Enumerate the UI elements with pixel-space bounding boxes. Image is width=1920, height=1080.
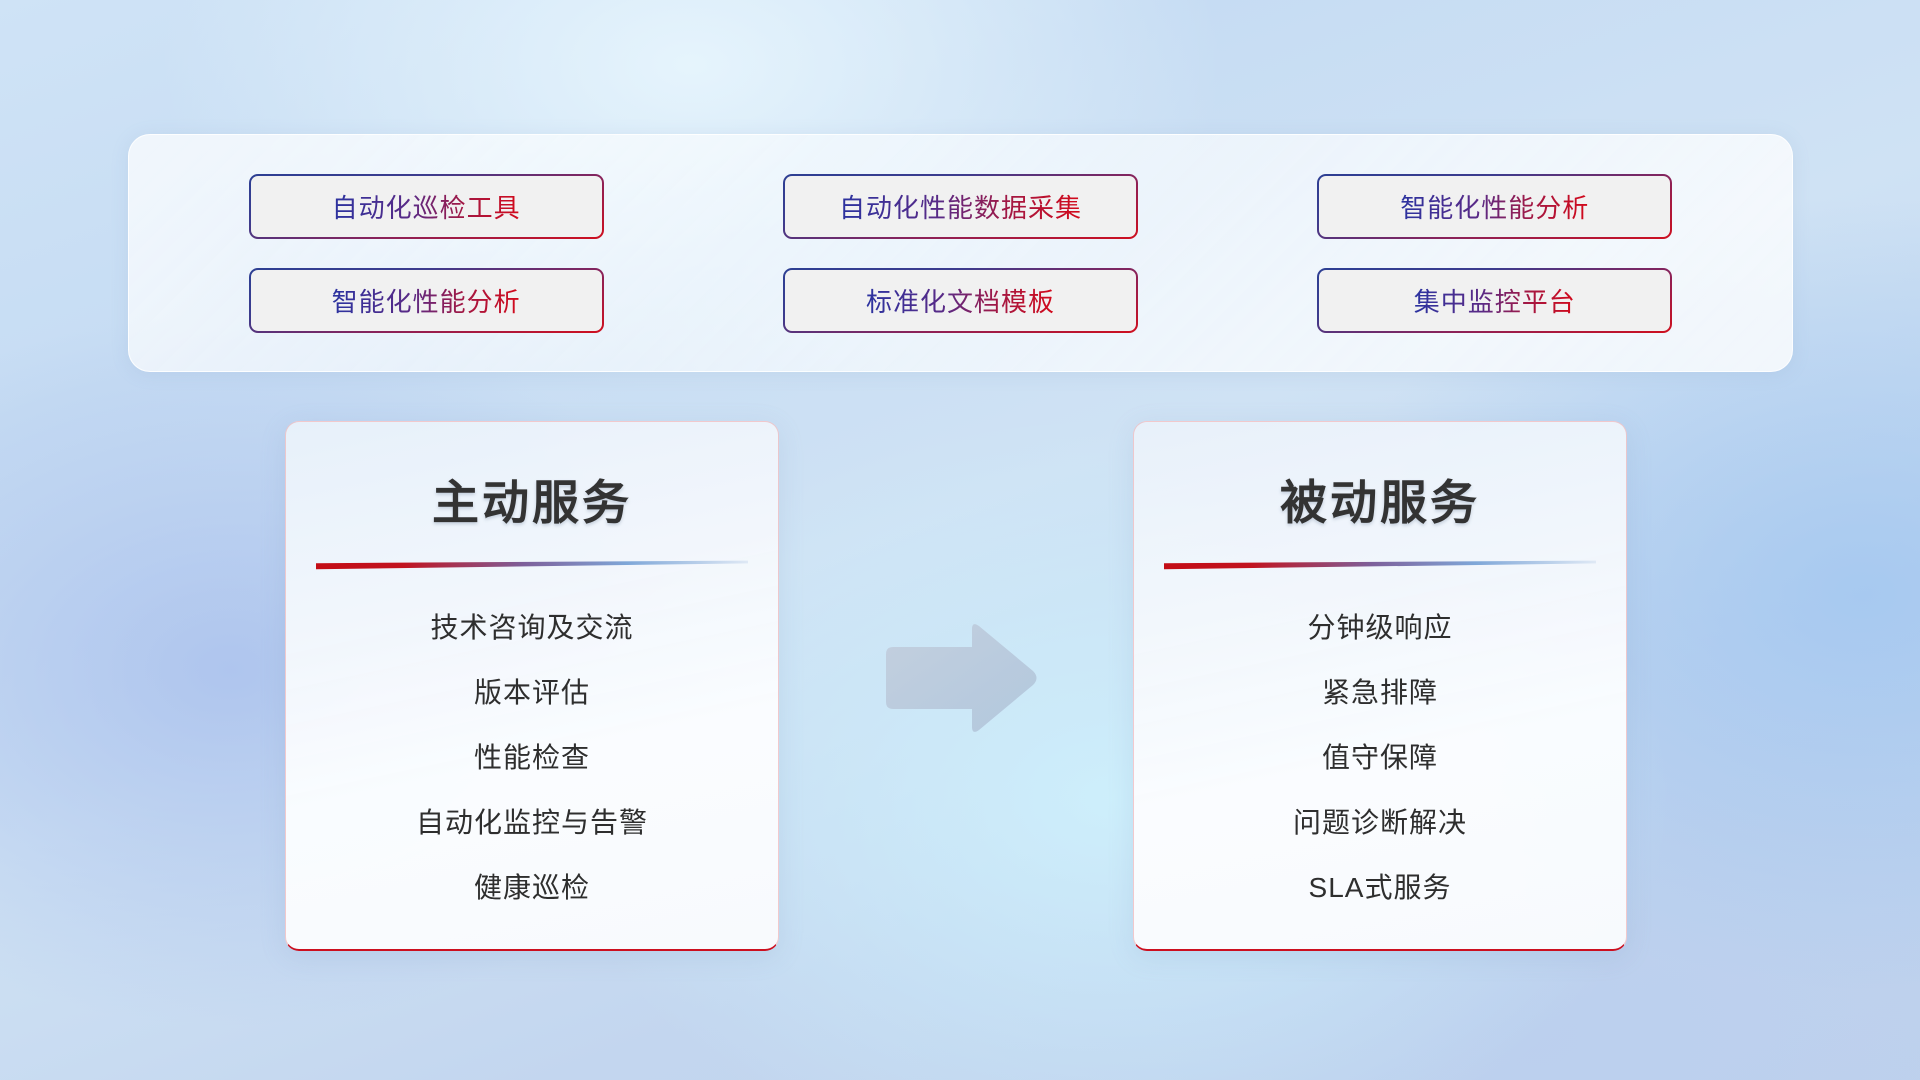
card-list-item: 值守保障 xyxy=(1322,736,1438,776)
capability-tag-label: 智能化性能分析 xyxy=(332,282,521,319)
card-list-item: 性能检查 xyxy=(474,736,590,776)
card-item-list: 技术咨询及交流 版本评估 性能检查 自动化监控与告警 健康巡检 xyxy=(286,606,778,906)
capability-tag[interactable]: 智能化性能分析 xyxy=(1317,174,1672,239)
capability-tag-label: 自动化性能数据采集 xyxy=(839,188,1082,225)
capability-tag-label: 标准化文档模板 xyxy=(866,282,1055,319)
title-divider xyxy=(1164,560,1596,572)
card-title: 主动服务 xyxy=(286,464,778,533)
title-divider xyxy=(316,560,748,572)
card-list-item: 技术咨询及交流 xyxy=(430,606,633,646)
arrow-right-icon xyxy=(880,620,1040,736)
card-list-item: 自动化监控与告警 xyxy=(416,801,648,841)
capability-tag[interactable]: 自动化性能数据采集 xyxy=(783,174,1138,239)
card-list-item: 问题诊断解决 xyxy=(1293,801,1467,841)
card-title: 被动服务 xyxy=(1134,464,1626,533)
card-item-list: 分钟级响应 紧急排障 值守保障 问题诊断解决 SLA式服务 xyxy=(1134,606,1626,906)
capability-tag[interactable]: 标准化文档模板 xyxy=(783,268,1138,333)
slide-canvas: 自动化巡检工具 自动化性能数据采集 智能化性能分析 智能化性能分析 标准化文档模… xyxy=(0,0,1920,1080)
capability-tag-label: 智能化性能分析 xyxy=(1400,188,1589,225)
capability-tag-panel: 自动化巡检工具 自动化性能数据采集 智能化性能分析 智能化性能分析 标准化文档模… xyxy=(128,134,1793,372)
card-list-item: 紧急排障 xyxy=(1322,671,1438,711)
capability-tag-grid: 自动化巡检工具 自动化性能数据采集 智能化性能分析 智能化性能分析 标准化文档模… xyxy=(129,135,1792,371)
capability-tag[interactable]: 集中监控平台 xyxy=(1317,268,1672,333)
card-list-item: 健康巡检 xyxy=(474,866,590,906)
capability-tag[interactable]: 智能化性能分析 xyxy=(249,268,604,333)
capability-tag-label: 自动化巡检工具 xyxy=(332,188,521,225)
card-list-item: 分钟级响应 xyxy=(1307,606,1452,646)
card-list-item: 版本评估 xyxy=(474,671,590,711)
capability-tag-label: 集中监控平台 xyxy=(1414,282,1576,319)
card-list-item: SLA式服务 xyxy=(1309,866,1452,906)
service-card-proactive[interactable]: 主动服务 技术咨询及交流 版本评估 性能检查 自动化监控与告警 xyxy=(285,421,779,951)
capability-tag[interactable]: 自动化巡检工具 xyxy=(249,174,604,239)
service-card-reactive[interactable]: 被动服务 分钟级响应 紧急排障 值守保障 问题诊断解决 xyxy=(1133,421,1627,951)
